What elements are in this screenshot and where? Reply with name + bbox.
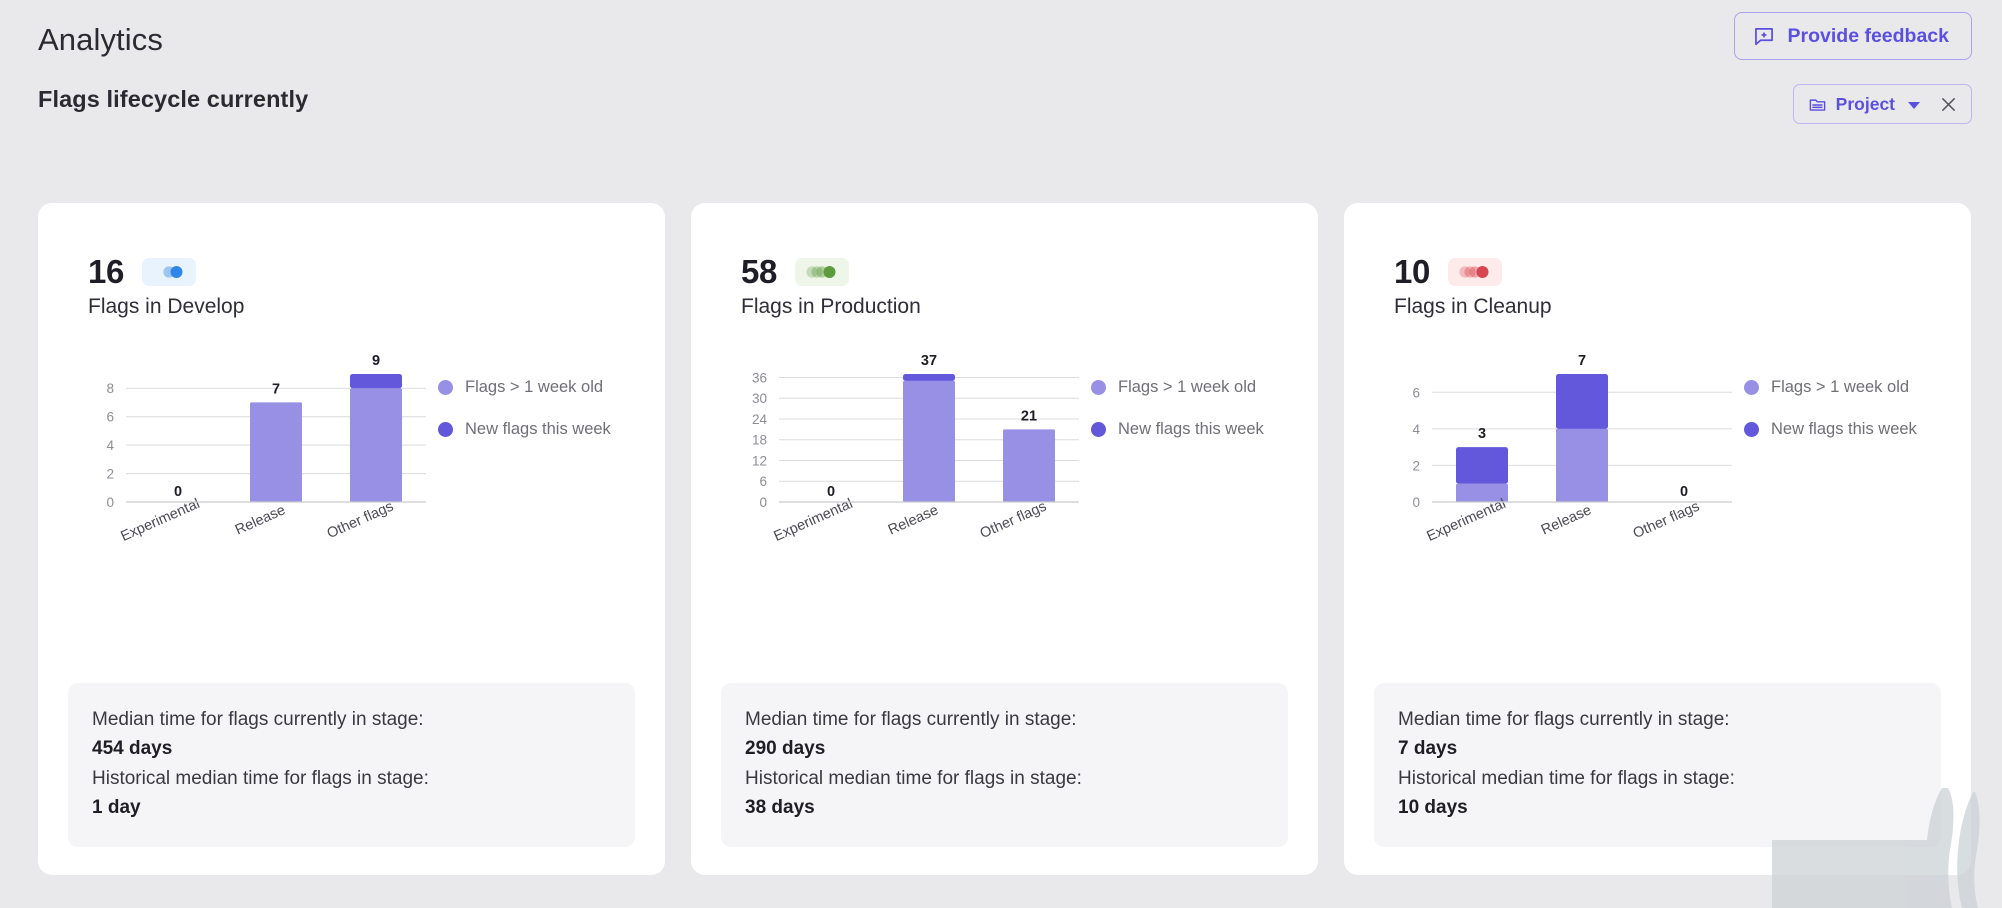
svg-text:9: 9 bbox=[372, 353, 380, 369]
legend-dot-old bbox=[438, 380, 453, 395]
svg-text:7: 7 bbox=[1578, 353, 1586, 369]
legend-dot-new bbox=[1744, 422, 1759, 437]
svg-text:12: 12 bbox=[752, 454, 767, 469]
section-header: Flags lifecycle currently Project bbox=[0, 72, 2002, 150]
page-title: Analytics bbox=[38, 22, 163, 58]
svg-text:6: 6 bbox=[1412, 385, 1420, 400]
card-subtitle: Flags in Develop bbox=[88, 295, 244, 319]
card-kpi: 16 bbox=[88, 255, 196, 288]
svg-text:3: 3 bbox=[1478, 426, 1486, 442]
current-median-value: 454 days bbox=[92, 734, 611, 764]
chevron-down-icon[interactable] bbox=[1908, 102, 1920, 109]
current-median-value: 290 days bbox=[745, 734, 1264, 764]
historical-median-value: 1 day bbox=[92, 793, 611, 823]
cleanup-stage-badge bbox=[1448, 258, 1502, 286]
current-median-label: Median time for flags currently in stage… bbox=[1398, 705, 1917, 735]
folder-icon bbox=[1808, 95, 1827, 114]
card-kpi: 10 bbox=[1394, 255, 1502, 288]
legend-label: New flags this week bbox=[465, 420, 611, 439]
current-median-value: 7 days bbox=[1398, 734, 1917, 764]
legend-label: New flags this week bbox=[1118, 420, 1264, 439]
svg-text:Release: Release bbox=[886, 502, 941, 538]
historical-median-label: Historical median time for flags in stag… bbox=[745, 764, 1264, 794]
svg-text:37: 37 bbox=[921, 353, 937, 369]
legend-dot-new bbox=[438, 422, 453, 437]
svg-text:4: 4 bbox=[106, 438, 114, 453]
median-time-panel: Median time for flags currently in stage… bbox=[68, 683, 635, 848]
historical-median-label: Historical median time for flags in stag… bbox=[1398, 764, 1917, 794]
svg-text:Experimental: Experimental bbox=[1424, 496, 1508, 545]
legend-item: New flags this week bbox=[438, 420, 611, 439]
svg-text:Release: Release bbox=[1539, 502, 1594, 538]
svg-text:Release: Release bbox=[233, 502, 288, 538]
production-stage-badge bbox=[795, 258, 849, 286]
card-subtitle: Flags in Production bbox=[741, 295, 921, 319]
svg-text:Other flags: Other flags bbox=[978, 499, 1049, 542]
legend-label: Flags > 1 week old bbox=[465, 378, 603, 397]
median-time-panel: Median time for flags currently in stage… bbox=[1374, 683, 1941, 848]
svg-text:7: 7 bbox=[272, 381, 280, 397]
chart-legend: Flags > 1 week old New flags this week bbox=[438, 378, 611, 439]
historical-median-value: 10 days bbox=[1398, 793, 1917, 823]
svg-text:0: 0 bbox=[106, 495, 114, 510]
legend-item: Flags > 1 week old bbox=[1091, 378, 1264, 397]
flag-count: 10 bbox=[1394, 255, 1430, 288]
svg-text:6: 6 bbox=[106, 410, 114, 425]
provide-feedback-button[interactable]: Provide feedback bbox=[1734, 12, 1972, 60]
svg-text:4: 4 bbox=[1412, 422, 1420, 437]
svg-text:Experimental: Experimental bbox=[118, 496, 202, 545]
svg-text:6: 6 bbox=[759, 474, 767, 489]
median-time-panel: Median time for flags currently in stage… bbox=[721, 683, 1288, 848]
svg-text:18: 18 bbox=[752, 433, 767, 448]
legend-item: New flags this week bbox=[1091, 420, 1264, 439]
current-median-label: Median time for flags currently in stage… bbox=[92, 705, 611, 735]
svg-text:0: 0 bbox=[827, 484, 835, 500]
project-filter-label: Project bbox=[1836, 94, 1895, 115]
svg-text:Other flags: Other flags bbox=[1631, 499, 1702, 542]
chart-legend: Flags > 1 week old New flags this week bbox=[1744, 378, 1917, 439]
svg-text:2: 2 bbox=[106, 467, 114, 482]
legend-item: New flags this week bbox=[1744, 420, 1917, 439]
historical-median-value: 38 days bbox=[745, 793, 1264, 823]
legend-dot-old bbox=[1744, 380, 1759, 395]
page-header: Analytics Provide feedback bbox=[0, 0, 2002, 72]
current-median-label: Median time for flags currently in stage… bbox=[745, 705, 1264, 735]
stage-card: 58 Flags in Production 0612182430360Expe… bbox=[691, 203, 1318, 875]
card-subtitle: Flags in Cleanup bbox=[1394, 295, 1552, 319]
chart-legend: Flags > 1 week old New flags this week bbox=[1091, 378, 1264, 439]
legend-dot-new bbox=[1091, 422, 1106, 437]
legend-dot-old bbox=[1091, 380, 1106, 395]
svg-text:0: 0 bbox=[174, 484, 182, 500]
stage-cards-row: 16 Flags in Develop 024680Experimental7R… bbox=[38, 203, 1972, 875]
legend-item: Flags > 1 week old bbox=[438, 378, 611, 397]
svg-text:Experimental: Experimental bbox=[771, 496, 855, 545]
project-filter-chip[interactable]: Project bbox=[1793, 84, 1972, 124]
legend-label: Flags > 1 week old bbox=[1771, 378, 1909, 397]
svg-text:30: 30 bbox=[752, 391, 767, 406]
feedback-sparkle-icon bbox=[1753, 25, 1775, 47]
section-title: Flags lifecycle currently bbox=[38, 86, 308, 113]
flag-count: 58 bbox=[741, 255, 777, 288]
svg-text:0: 0 bbox=[1680, 484, 1688, 500]
svg-text:8: 8 bbox=[106, 381, 114, 396]
svg-text:0: 0 bbox=[1412, 495, 1420, 510]
close-icon[interactable] bbox=[1938, 94, 1959, 115]
svg-text:2: 2 bbox=[1412, 458, 1420, 473]
svg-text:0: 0 bbox=[759, 495, 767, 510]
legend-item: Flags > 1 week old bbox=[1744, 378, 1917, 397]
historical-median-label: Historical median time for flags in stag… bbox=[92, 764, 611, 794]
provide-feedback-label: Provide feedback bbox=[1788, 25, 1949, 48]
svg-text:21: 21 bbox=[1021, 408, 1037, 424]
flag-count: 16 bbox=[88, 255, 124, 288]
stage-card: 10 Flags in Cleanup 02463Experimental7Re… bbox=[1344, 203, 1971, 875]
card-kpi: 58 bbox=[741, 255, 849, 288]
svg-text:Other flags: Other flags bbox=[325, 499, 396, 542]
svg-text:24: 24 bbox=[752, 412, 768, 427]
legend-label: Flags > 1 week old bbox=[1118, 378, 1256, 397]
stage-card: 16 Flags in Develop 024680Experimental7R… bbox=[38, 203, 665, 875]
svg-text:36: 36 bbox=[752, 371, 767, 386]
legend-label: New flags this week bbox=[1771, 420, 1917, 439]
develop-stage-badge bbox=[142, 258, 196, 286]
